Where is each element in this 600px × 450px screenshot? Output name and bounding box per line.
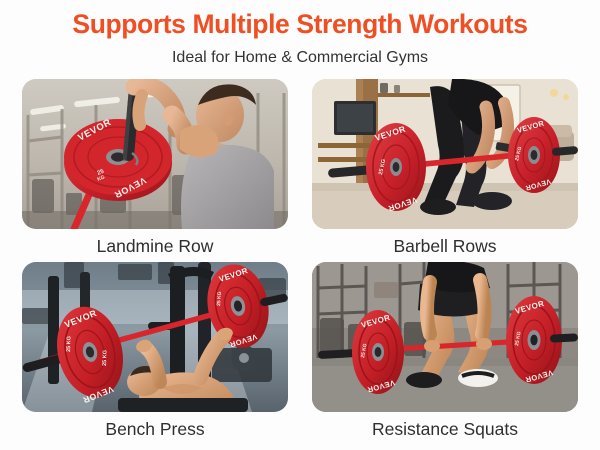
workout-caption-resistance-squats: Resistance Squats — [372, 419, 518, 441]
workout-caption-barbell-rows: Barbell Rows — [393, 236, 496, 258]
product-feature-panel: Supports Multiple Strength Workouts Idea… — [0, 0, 600, 450]
barbell-rows-illustration: VEVOR VEVOR 25 KG VEVOR VEVOR 25 KG — [312, 79, 578, 229]
workout-card-barbell-rows[interactable]: VEVOR VEVOR 25 KG VEVOR VEVOR 25 KG Barb — [312, 79, 578, 258]
page-subtitle: Ideal for Home & Commercial Gyms — [0, 48, 600, 67]
workout-caption-landmine-row: Landmine Row — [97, 236, 214, 258]
workout-card-grid: VEVOR VEVOR 25 KG — [22, 79, 578, 441]
workout-image-bench-press: VEVOR VEVOR 25 KG 25 KG VEVOR VEVOR 25 K… — [22, 262, 288, 412]
landmine-row-illustration: VEVOR VEVOR 25 KG — [22, 79, 288, 229]
resistance-squats-illustration: VEVOR VEVOR 25 KG VEVOR VEVOR 25 KG — [312, 262, 578, 412]
workout-card-bench-press[interactable]: VEVOR VEVOR 25 KG 25 KG VEVOR VEVOR 25 K… — [22, 262, 288, 441]
workout-card-landmine-row[interactable]: VEVOR VEVOR 25 KG — [22, 79, 288, 258]
page-title: Supports Multiple Strength Workouts — [0, 9, 600, 40]
workout-caption-bench-press: Bench Press — [105, 419, 204, 441]
svg-text:25 KG: 25 KG — [66, 336, 73, 352]
workout-image-landmine-row: VEVOR VEVOR 25 KG — [22, 79, 288, 229]
workout-image-barbell-rows: VEVOR VEVOR 25 KG VEVOR VEVOR 25 KG — [312, 79, 578, 229]
workout-image-resistance-squats: VEVOR VEVOR 25 KG VEVOR VEVOR 25 KG — [312, 262, 578, 412]
header: Supports Multiple Strength Workouts Idea… — [0, 0, 600, 67]
workout-card-resistance-squats[interactable]: VEVOR VEVOR 25 KG VEVOR VEVOR 25 KG — [312, 262, 578, 441]
bench-press-illustration: VEVOR VEVOR 25 KG 25 KG VEVOR VEVOR 25 K… — [22, 262, 288, 412]
svg-text:25 KG: 25 KG — [102, 350, 109, 366]
svg-text:25 KG: 25 KG — [216, 292, 223, 307]
